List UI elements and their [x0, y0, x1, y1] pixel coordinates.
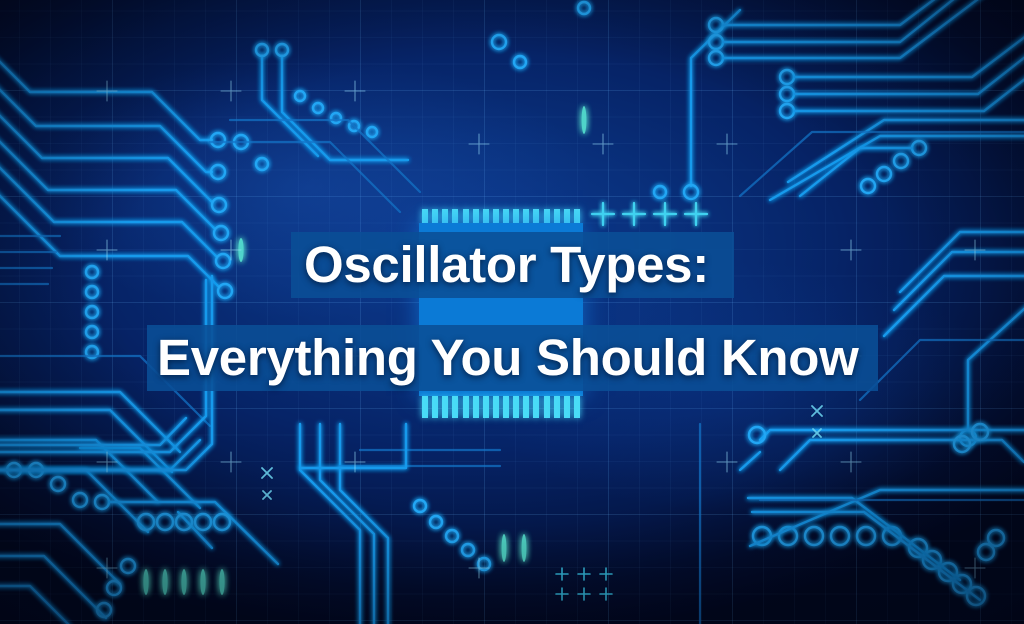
chip-pin [554, 396, 560, 418]
chip-pin [452, 396, 458, 418]
chip-pin [564, 209, 570, 224]
chip-pin [544, 396, 550, 418]
chip-pin [432, 396, 438, 418]
chip-pin [483, 396, 489, 418]
chip-pin [432, 209, 438, 224]
chip-pin [463, 396, 469, 418]
chip-pin [473, 209, 479, 224]
chip-bottom-pins [422, 396, 580, 420]
chip-pin [513, 396, 519, 418]
chip-pin [452, 209, 458, 224]
chip-pin [503, 209, 509, 224]
chip-pin [442, 209, 448, 224]
chip-pin [442, 396, 448, 418]
chip-pin [422, 396, 428, 418]
chip-pin [574, 396, 580, 418]
chip-pin [523, 396, 529, 418]
chip-pin [533, 209, 539, 224]
chip-pin [503, 396, 509, 418]
title-line-2: Everything You Should Know [147, 325, 878, 391]
title-line-1: Oscillator Types: [291, 232, 734, 298]
chip-top-pins [422, 202, 580, 224]
chip-pin [574, 209, 580, 224]
chip-pin [463, 209, 469, 224]
banner-root: Oscillator Types: Everything You Should … [0, 0, 1024, 624]
chip-pin [544, 209, 550, 224]
chip-pin [473, 396, 479, 418]
chip-pin [564, 396, 570, 418]
chip-pin [483, 209, 489, 224]
chip-pin [513, 209, 519, 224]
chip-pin [533, 396, 539, 418]
chip-pin [493, 396, 499, 418]
chip-pin [422, 209, 428, 224]
chip-pin [523, 209, 529, 224]
chip-pin [554, 209, 560, 224]
chip-pin [493, 209, 499, 224]
